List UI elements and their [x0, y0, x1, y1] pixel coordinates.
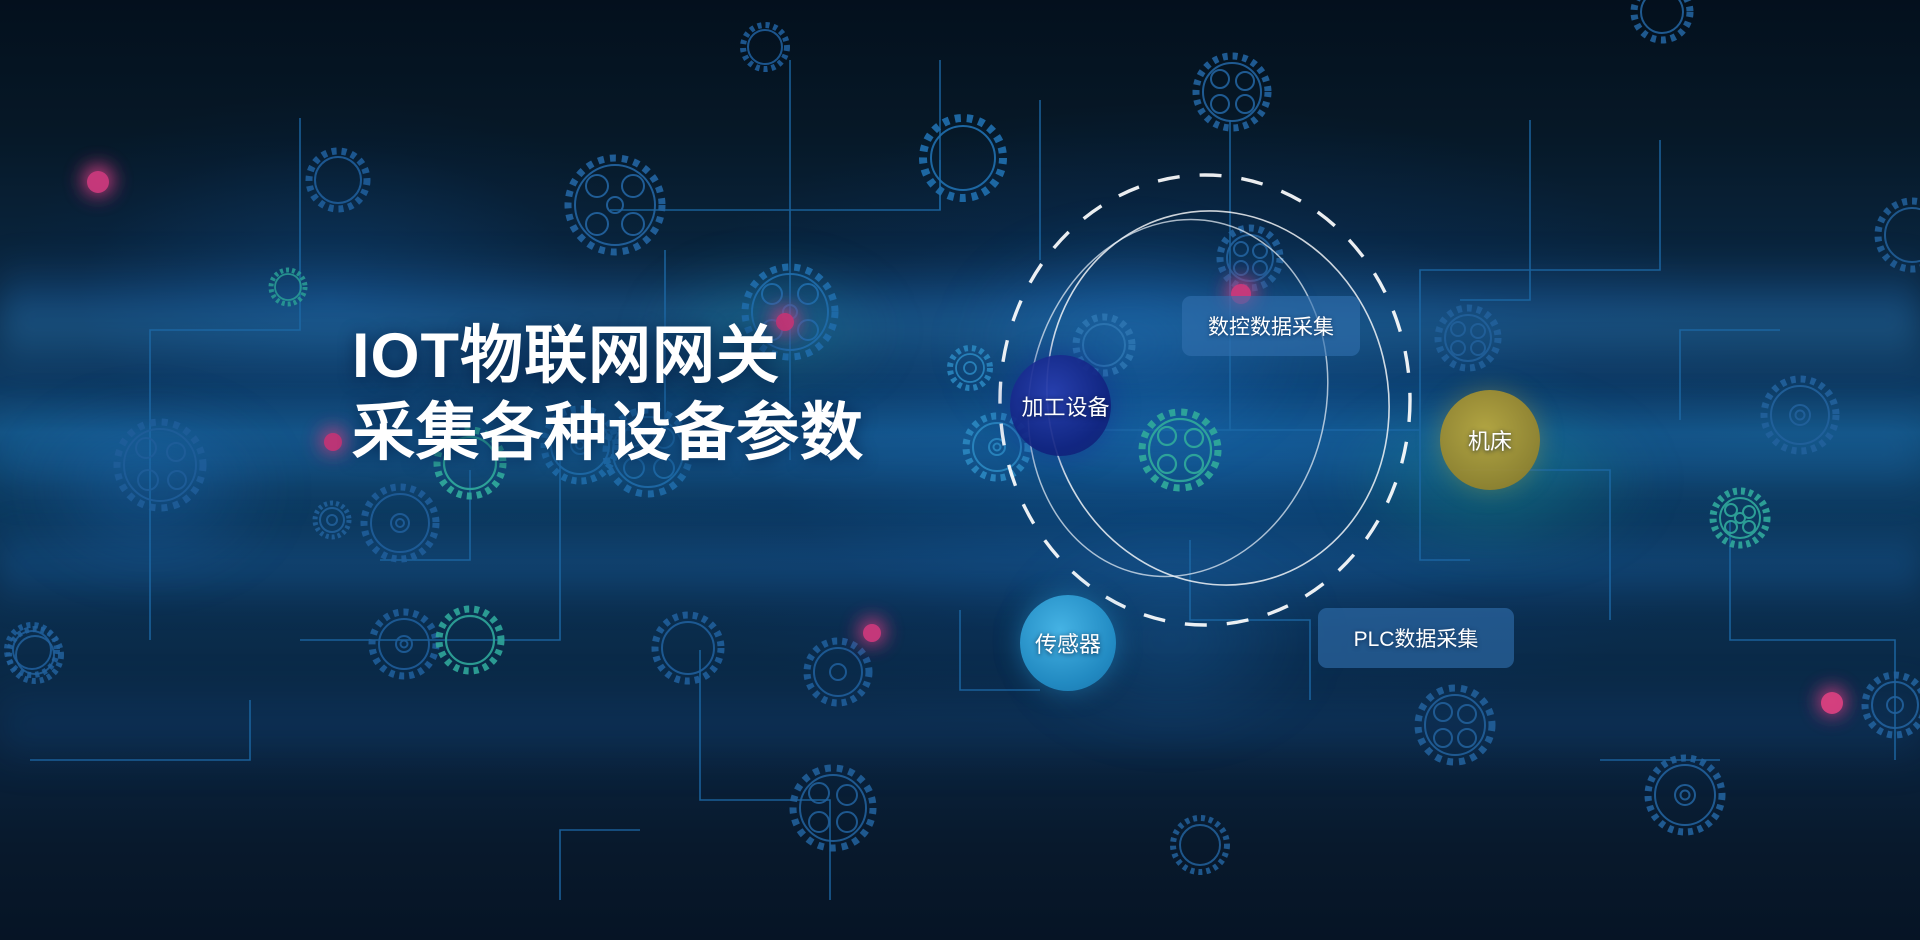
- gear-icon: [1764, 379, 1836, 451]
- gear-icon: [439, 609, 501, 671]
- node-machine-tool[interactable]: 机床: [1440, 390, 1540, 490]
- gear-icon: [7, 625, 57, 675]
- gear-icon: [1438, 308, 1498, 368]
- headline-line-2: 采集各种设备参数: [352, 395, 864, 472]
- gear-icon: [1878, 201, 1920, 269]
- gear-icon: [372, 612, 436, 676]
- pink-dot: [1814, 685, 1850, 721]
- gear-icon: [1196, 56, 1268, 128]
- circuit-gear-layer: [0, 0, 1920, 940]
- gear-icon: [743, 25, 787, 69]
- gear-icon: [9, 629, 61, 681]
- gear-icon: [1634, 0, 1690, 40]
- node-sensor[interactable]: 传感器: [1020, 595, 1116, 691]
- node-processing-equipment-label: 加工设备: [1021, 390, 1109, 422]
- pink-dot: [317, 426, 349, 458]
- gear-icon: [309, 151, 367, 209]
- gear-icon: [1865, 675, 1920, 735]
- page-title: IOT物联网网关 采集各种设备参数: [352, 318, 864, 472]
- node-processing-equipment[interactable]: 加工设备: [1010, 355, 1111, 456]
- blue-glow-far-left: [20, 400, 280, 580]
- accent-dots: [78, 162, 1850, 721]
- gear-field: [7, 0, 1920, 872]
- node-sensor-label: 传感器: [1035, 627, 1101, 659]
- gear-icon: [364, 487, 436, 559]
- gear-icon: [793, 768, 873, 848]
- gear-icon: [950, 348, 990, 388]
- pink-dot: [78, 162, 118, 202]
- light-streak-3: [0, 520, 1920, 610]
- light-streak-1: [0, 255, 1920, 375]
- headline-line-1: IOT物联网网关: [352, 318, 864, 395]
- gear-icon: [655, 615, 721, 681]
- light-streak-4: [0, 680, 1920, 770]
- gear-icon: [1220, 228, 1280, 288]
- chip-cnc-label: 数控数据采集: [1208, 311, 1334, 341]
- node-machine-tool-label: 机床: [1468, 424, 1512, 456]
- gear-icon: [315, 503, 349, 537]
- chip-cnc-data-collection[interactable]: 数控数据采集: [1182, 296, 1360, 356]
- gear-icon: [1142, 412, 1218, 488]
- gear-icon: [271, 270, 305, 304]
- light-streak-2: [0, 400, 1920, 500]
- gear-icon: [1418, 688, 1492, 762]
- gear-icon: [1648, 758, 1722, 832]
- circuit-traces: [30, 60, 1895, 900]
- gear-icon: [1173, 818, 1227, 872]
- gear-icon: [807, 641, 869, 703]
- chip-plc-label: PLC数据采集: [1354, 623, 1479, 653]
- gear-icon: [1713, 491, 1767, 545]
- gear-icon: [117, 422, 203, 508]
- gear-icon: [568, 158, 662, 252]
- iot-gateway-banner: IOT物联网网关 采集各种设备参数 加工设备 机床 传感器 数控数据采集 PLC…: [0, 0, 1920, 940]
- pink-dot: [855, 616, 889, 650]
- gear-icon: [923, 118, 1003, 198]
- chip-plc-data-collection[interactable]: PLC数据采集: [1318, 608, 1514, 668]
